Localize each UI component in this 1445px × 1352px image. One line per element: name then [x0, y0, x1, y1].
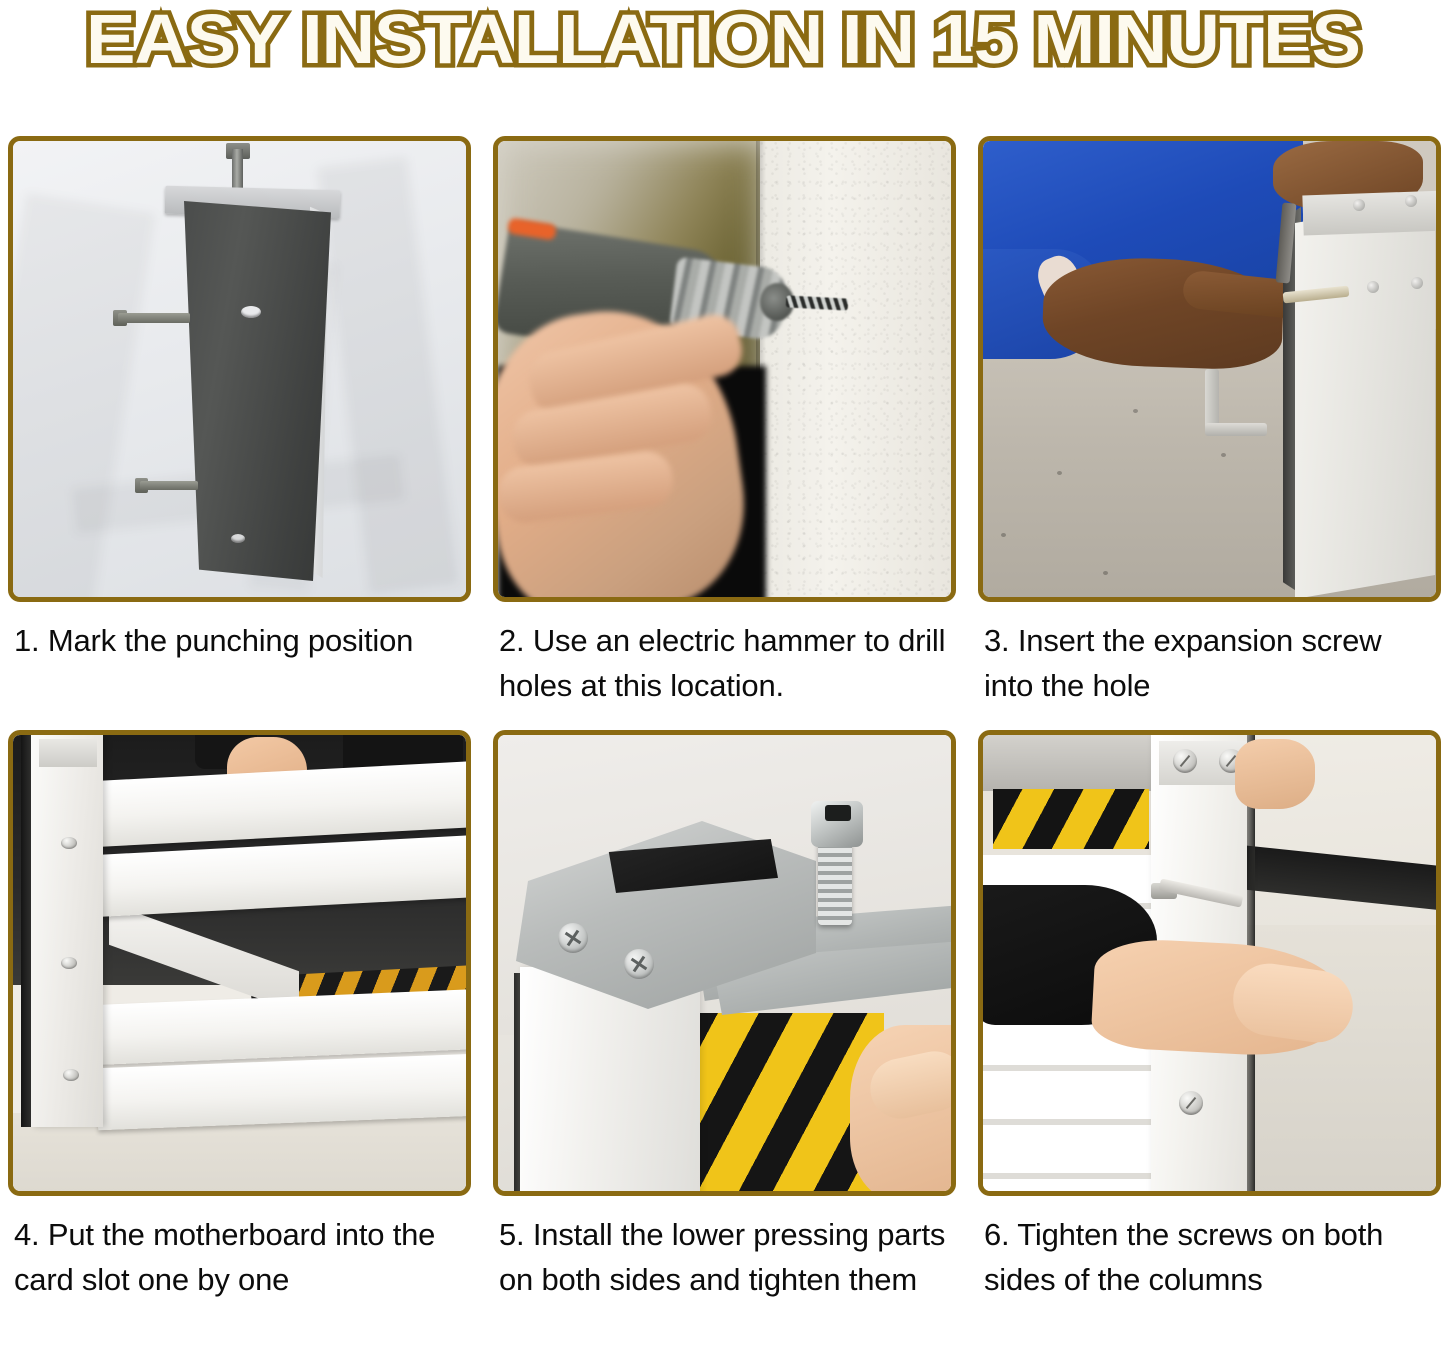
floor-speck: [1133, 409, 1138, 413]
mounting-hole-lower: [231, 534, 245, 543]
installation-guide-infographic: EASY INSTALLATION IN 15 MINUTES: [0, 0, 1445, 1352]
step-photo-6: [978, 730, 1441, 1196]
white-column-post: [1295, 199, 1435, 597]
column-post-body: [181, 201, 331, 581]
page-title: EASY INSTALLATION IN 15 MINUTES: [85, 2, 1359, 76]
phillips-screw-head: [624, 949, 654, 979]
hazard-stripe-tape: [993, 789, 1149, 849]
photo-scene-drill-holes: [498, 141, 951, 597]
upper-frame-bar: [983, 735, 1159, 791]
screw-head: [1411, 277, 1423, 289]
step-caption-6: 6. Tighten the screws on both sides of t…: [978, 1212, 1441, 1302]
step-photo-3: [978, 136, 1441, 602]
step-photo-4: [8, 730, 471, 1196]
screw-head: [61, 837, 77, 849]
column-top-plate: [39, 739, 97, 767]
steps-row-2: 4. Put the motherboard into the card slo…: [8, 730, 1440, 1302]
step-photo-5: [493, 730, 956, 1196]
screw-head: [61, 957, 77, 969]
title-banner: EASY INSTALLATION IN 15 MINUTES: [0, 0, 1445, 108]
step-caption-3: 3. Insert the expansion screw into the h…: [978, 618, 1441, 708]
step-card-3: 3. Insert the expansion screw into the h…: [978, 136, 1441, 708]
floor-speck: [1103, 571, 1108, 575]
step-caption-1: 1. Mark the punching position: [8, 618, 471, 663]
photo-scene-mark-punching-position: [13, 141, 466, 597]
second-hand: [1235, 739, 1315, 809]
photo-scene-lower-pressing-parts: [498, 735, 951, 1191]
step-card-2: 2. Use an electric hammer to drill holes…: [493, 136, 956, 708]
floor-speck: [1221, 453, 1226, 457]
expansion-bolt-upper: [118, 313, 190, 323]
hex-bolt-thread: [818, 839, 852, 925]
steps-grid: 1. Mark the punching position: [8, 136, 1440, 1302]
step-card-5: 5. Install the lower pressing parts on b…: [493, 730, 956, 1302]
screw-head: [1405, 195, 1417, 207]
photo-scene-insert-boards: [13, 735, 466, 1191]
hex-socket: [825, 805, 851, 821]
screw-head: [63, 1069, 79, 1081]
photo-scene-tighten-screws: [983, 735, 1436, 1191]
top-stud: [232, 149, 243, 193]
screw-head: [1353, 199, 1365, 211]
barrier-board: [96, 989, 466, 1065]
photo-scene-insert-expansion-screw: [983, 141, 1436, 597]
step-card-6: 6. Tighten the screws on both sides of t…: [978, 730, 1441, 1302]
screw-head: [1173, 749, 1197, 773]
step-card-4: 4. Put the motherboard into the card slo…: [8, 730, 471, 1302]
step-caption-4: 4. Put the motherboard into the card slo…: [8, 1212, 471, 1302]
wall-texture: [760, 141, 951, 597]
mounting-hole-upper: [241, 306, 261, 318]
wall-surface: [760, 141, 951, 597]
sheet-fold: [317, 157, 459, 595]
step-photo-1: [8, 136, 471, 602]
floor-speck: [1001, 533, 1006, 537]
phillips-screw-head: [558, 923, 588, 953]
step-card-1: 1. Mark the punching position: [8, 136, 471, 708]
screw-head: [1367, 281, 1379, 293]
column-with-card-slot: [31, 735, 103, 1127]
spare-allen-key-horizontal: [1205, 423, 1267, 436]
floor-speck: [1057, 471, 1062, 475]
step-caption-2: 2. Use an electric hammer to drill holes…: [493, 618, 956, 708]
expansion-bolt-lower: [140, 481, 198, 490]
sheet-fold: [13, 193, 155, 597]
steps-row-1: 1. Mark the punching position: [8, 136, 1440, 708]
step-caption-5: 5. Install the lower pressing parts on b…: [493, 1212, 956, 1302]
step-photo-2: [493, 136, 956, 602]
screw-head: [1179, 1091, 1203, 1115]
